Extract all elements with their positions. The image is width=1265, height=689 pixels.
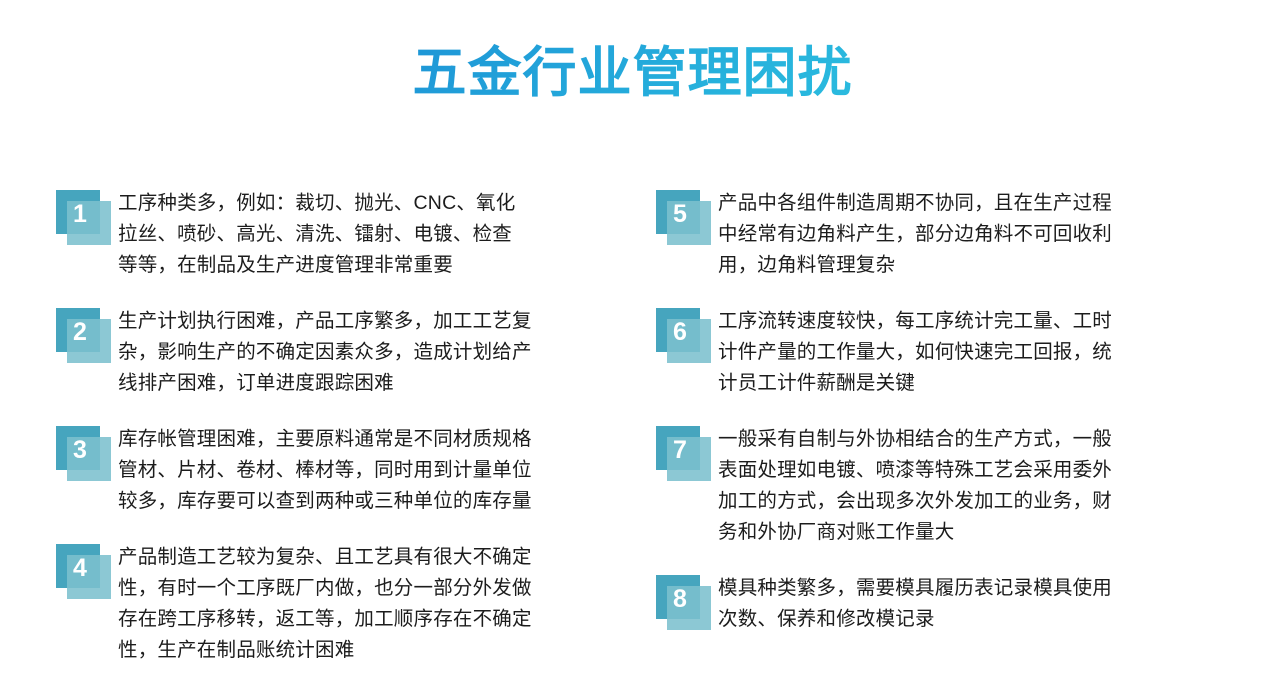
items-column-right: 5产品中各组件制造周期不协同，且在生产过程中经常有边角料产生，部分边角料不可回收… [656,186,1236,658]
list-item-text-line: 较多，库存要可以查到两种或三种单位的库存量 [118,486,636,517]
list-item-text-line: 工序流转速度较快，每工序统计完工量、工时 [718,306,1236,337]
list-item-text-line: 模具种类繁多，需要模具履历表记录模具使用 [718,573,1236,604]
number-badge-6: 6 [656,308,718,366]
list-item-text-line: 性，有时一个工序既厂内做，也分一部分外发做 [118,573,636,604]
list-item-text-line: 拉丝、喷砂、高光、清洗、镭射、电镀、检查 [118,219,636,250]
badge-number-label: 5 [656,190,704,238]
list-item-text: 工序流转速度较快，每工序统计完工量、工时计件产量的工作量大，如何快速完工回报，统… [718,304,1236,399]
list-item-text-line: 产品制造工艺较为复杂、且工艺具有很大不确定 [118,542,636,573]
list-item-4: 4产品制造工艺较为复杂、且工艺具有很大不确定性，有时一个工序既厂内做，也分一部分… [56,540,636,666]
number-badge-1: 1 [56,190,118,248]
number-badge-3: 3 [56,426,118,484]
list-item-text-line: 务和外协厂商对账工作量大 [718,517,1236,548]
list-item-text-line: 计件产量的工作量大，如何快速完工回报，统 [718,337,1236,368]
list-item-text-line: 计员工计件薪酬是关键 [718,368,1236,399]
list-item-text-line: 中经常有边角料产生，部分边角料不可回收利 [718,219,1236,250]
number-badge-2: 2 [56,308,118,366]
badge-number-label: 2 [56,308,104,356]
items-column-left: 1工序种类多，例如：裁切、抛光、CNC、氧化拉丝、喷砂、高光、清洗、镭射、电镀、… [56,186,636,689]
number-badge-5: 5 [656,190,718,248]
badge-number-label: 1 [56,190,104,238]
list-item-text-line: 表面处理如电镀、喷漆等特殊工艺会采用委外 [718,455,1236,486]
list-item-text-line: 用，边角料管理复杂 [718,250,1236,281]
list-item-text: 一般采有自制与外协相结合的生产方式，一般表面处理如电镀、喷漆等特殊工艺会采用委外… [718,422,1236,548]
badge-number-label: 7 [656,426,704,474]
list-item-text-line: 库存帐管理困难，主要原料通常是不同材质规格 [118,424,636,455]
list-item-text: 生产计划执行困难，产品工序繁多，加工工艺复杂，影响生产的不确定因素众多，造成计划… [118,304,636,399]
list-item-text-line: 一般采有自制与外协相结合的生产方式，一般 [718,424,1236,455]
list-item-text: 产品中各组件制造周期不协同，且在生产过程中经常有边角料产生，部分边角料不可回收利… [718,186,1236,281]
badge-number-label: 6 [656,308,704,356]
number-badge-7: 7 [656,426,718,484]
number-badge-4: 4 [56,544,118,602]
list-item-text-line: 产品中各组件制造周期不协同，且在生产过程 [718,188,1236,219]
list-item-1: 1工序种类多，例如：裁切、抛光、CNC、氧化拉丝、喷砂、高光、清洗、镭射、电镀、… [56,186,636,281]
badge-number-label: 3 [56,426,104,474]
list-item-text-line: 性，生产在制品账统计困难 [118,635,636,666]
list-item-5: 5产品中各组件制造周期不协同，且在生产过程中经常有边角料产生，部分边角料不可回收… [656,186,1236,281]
list-item-text-line: 工序种类多，例如：裁切、抛光、CNC、氧化 [118,188,636,219]
list-item-text-line: 生产计划执行困难，产品工序繁多，加工工艺复 [118,306,636,337]
list-item-6: 6工序流转速度较快，每工序统计完工量、工时计件产量的工作量大，如何快速完工回报，… [656,304,1236,399]
list-item-8: 8模具种类繁多，需要模具履历表记录模具使用次数、保养和修改模记录 [656,571,1236,635]
list-item-text: 模具种类繁多，需要模具履历表记录模具使用次数、保养和修改模记录 [718,571,1236,635]
list-item-text-line: 管材、片材、卷材、棒材等，同时用到计量单位 [118,455,636,486]
list-item-2: 2生产计划执行困难，产品工序繁多，加工工艺复杂，影响生产的不确定因素众多，造成计… [56,304,636,399]
list-item-7: 7一般采有自制与外协相结合的生产方式，一般表面处理如电镀、喷漆等特殊工艺会采用委… [656,422,1236,548]
list-item-text-line: 杂，影响生产的不确定因素众多，造成计划给产 [118,337,636,368]
list-item-text: 库存帐管理困难，主要原料通常是不同材质规格管材、片材、卷材、棒材等，同时用到计量… [118,422,636,517]
list-item-text: 产品制造工艺较为复杂、且工艺具有很大不确定性，有时一个工序既厂内做，也分一部分外… [118,540,636,666]
slide-root: 五金行业管理困扰 1工序种类多，例如：裁切、抛光、CNC、氧化拉丝、喷砂、高光、… [0,0,1265,689]
page-title: 五金行业管理困扰 [0,42,1265,104]
list-item-text: 工序种类多，例如：裁切、抛光、CNC、氧化拉丝、喷砂、高光、清洗、镭射、电镀、检… [118,186,636,281]
list-item-text-line: 存在跨工序移转，返工等，加工顺序存在不确定 [118,604,636,635]
list-item-3: 3库存帐管理困难，主要原料通常是不同材质规格管材、片材、卷材、棒材等，同时用到计… [56,422,636,517]
badge-number-label: 4 [56,544,104,592]
number-badge-8: 8 [656,575,718,633]
list-item-text-line: 次数、保养和修改模记录 [718,604,1236,635]
badge-number-label: 8 [656,575,704,623]
list-item-text-line: 加工的方式，会出现多次外发加工的业务，财 [718,486,1236,517]
list-item-text-line: 线排产困难，订单进度跟踪困难 [118,368,636,399]
list-item-text-line: 等等，在制品及生产进度管理非常重要 [118,250,636,281]
